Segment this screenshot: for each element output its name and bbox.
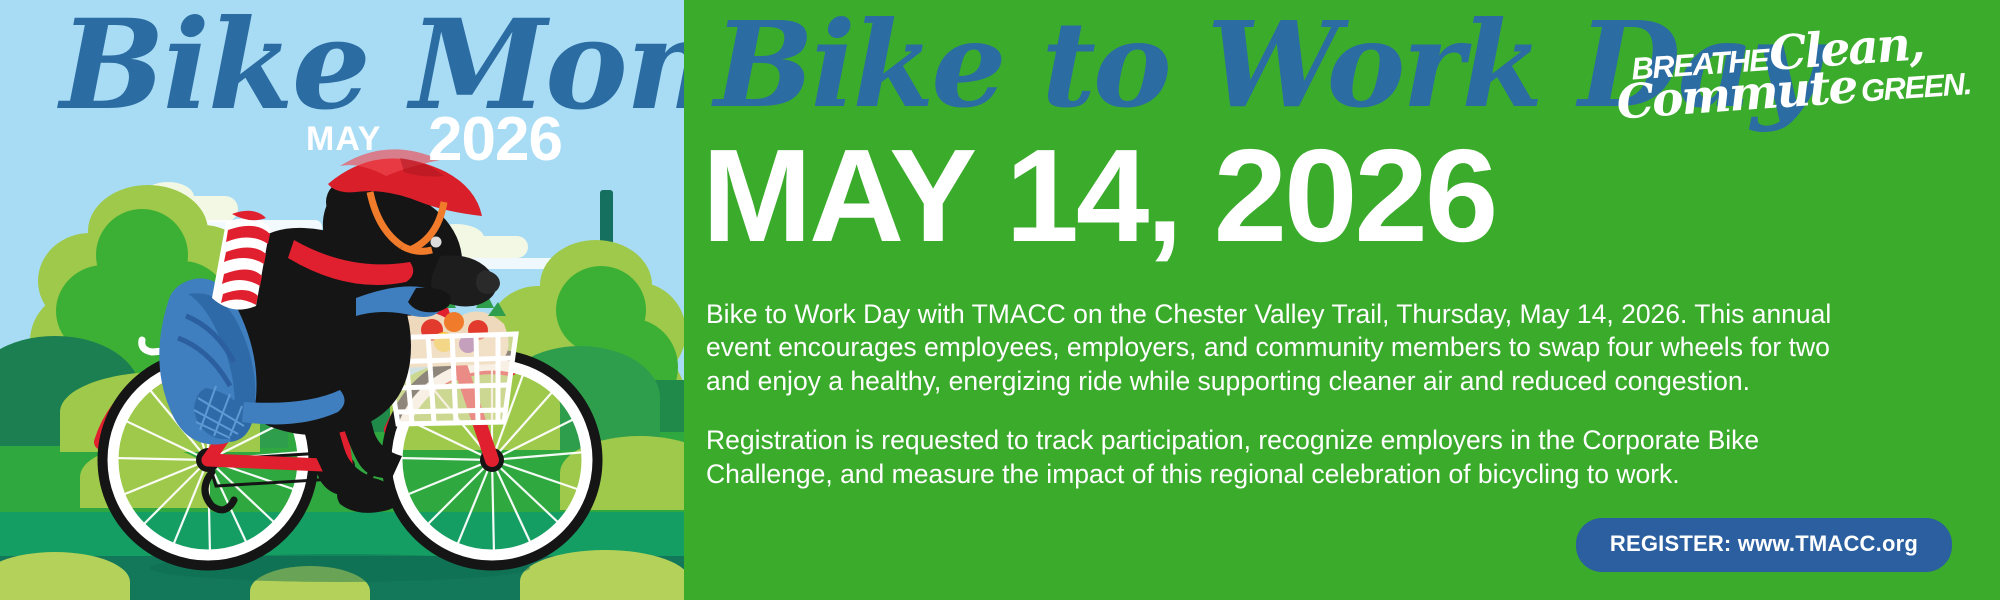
event-date-headline: MAY 14, 2026 [702, 130, 1495, 262]
logo-commute-text: Commute [1615, 63, 1858, 127]
bike-to-work-day-banner: Bike Month MAY 2026 Bike to Work Day BRE… [0, 0, 2000, 600]
register-button[interactable]: REGISTER: www.TMACC.org [1576, 518, 1952, 572]
logo-green-text: GREEN. [1860, 68, 1972, 107]
bike-month-title: Bike Month [60, 4, 684, 128]
description-paragraph-1: Bike to Work Day with TMACC on the Chest… [706, 298, 1856, 398]
description-paragraph-2: Registration is requested to track parti… [706, 424, 1856, 491]
bear-on-bicycle-illustration [40, 130, 660, 600]
illustration-panel: Bike Month MAY 2026 [0, 0, 684, 600]
event-info-panel: Bike to Work Day BREATHE Clean, Commute … [684, 0, 2000, 600]
event-description: Bike to Work Day with TMACC on the Chest… [706, 298, 1856, 491]
